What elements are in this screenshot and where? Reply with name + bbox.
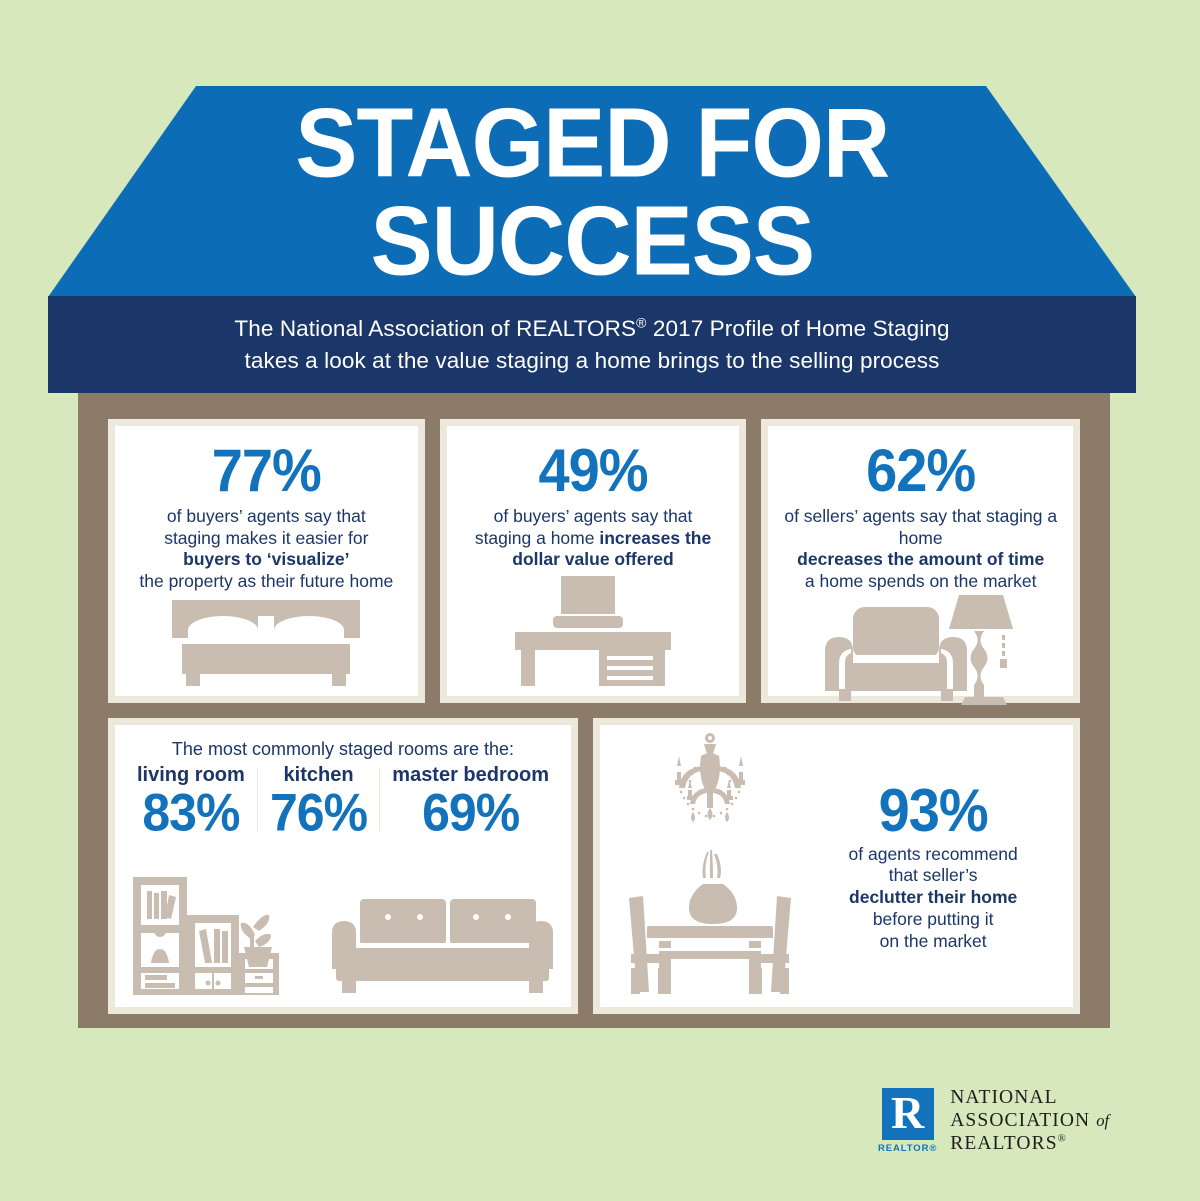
stat-49-line-2-pre: staging a home [475,528,600,548]
stat-93-line-4: before putting it [873,909,994,929]
stat-49-line-2-bold: increases the [599,528,711,548]
realtor-r-letter: R [882,1088,934,1140]
declutter-icons [610,732,809,1000]
rooms-icon-area [125,875,561,997]
subtitle-text: The National Association of REALTORS® 20… [194,313,989,375]
sofa-icon [330,895,555,997]
stats-row-top: 77% of buyers’ agents say that staging m… [108,419,1080,703]
stat-card-62: 62% of sellers’ agents say that staging … [761,419,1080,703]
nar-line-2: ASSOCIATION [950,1110,1090,1131]
stat-93-line-5: on the market [880,931,987,951]
house-illustration: STAGED FOR SUCCESS The National Associat… [0,0,1200,1201]
stat-card-93: 93% of agents recommend that seller’s de… [593,718,1080,1014]
stats-row-bottom: The most commonly staged rooms are the: … [108,718,1080,1014]
stat-description-77: of buyers’ agents say that staging makes… [139,506,393,593]
subtitle-banner: The National Association of REALTORS® 20… [48,296,1136,393]
room-stat-living-room: living room 83% [125,764,257,837]
room-percent-master-bedroom: 69% [422,786,519,840]
room-percent-kitchen: 76% [270,786,367,840]
armchair-lamp-icon [823,593,1018,705]
subtitle-line-1-post: 2017 Profile of Home Staging [647,316,950,341]
dining-table-icon [625,850,795,1000]
stat-62-line-2: decreases the amount of time [797,549,1044,569]
stat-77-line-3: buyers to ‘visualize’ [183,549,349,569]
realtor-block-icon: R [882,1088,934,1140]
armchair-lamp-icon-area [778,593,1063,705]
nar-line-2-of: of [1096,1111,1109,1130]
registered-mark-icon: ® [636,315,646,331]
nar-line-2-wrap: ASSOCIATION of [950,1109,1109,1132]
stat-93-line-1: of agents recommend [849,844,1018,864]
desk-icon [513,574,673,686]
stat-93-line-3: declutter their home [849,887,1017,907]
stat-49-line-1: of buyers’ agents say that [494,506,693,526]
stat-card-rooms: The most commonly staged rooms are the: … [108,718,578,1014]
bed-icon-area [125,600,408,686]
stat-card-77-inner: 77% of buyers’ agents say that staging m… [115,426,418,696]
stat-77-line-2: staging makes it easier for [164,528,368,548]
nar-logo: R REALTOR® NATIONAL ASSOCIATION of REALT… [878,1086,1109,1155]
stats-grid: 77% of buyers’ agents say that staging m… [78,393,1110,1028]
stat-49-line-3: dollar value offered [512,549,673,569]
bed-icon [166,600,366,686]
stat-77-line-4: the property as their future home [139,571,393,591]
stat-percent-62: 62% [866,440,975,500]
bookshelf-icon [131,875,281,997]
room-percent-living-room: 83% [142,786,239,840]
nar-wordmark: NATIONAL ASSOCIATION of REALTORS® [950,1086,1109,1155]
stat-93-line-2: that seller’s [889,865,978,885]
stat-percent-77: 77% [212,440,321,500]
nar-line-1: NATIONAL [950,1086,1109,1109]
roof-shape [48,86,1136,297]
nar-registered-icon: ® [1058,1133,1067,1145]
subtitle-line-1-pre: The National Association of REALTORS [234,316,636,341]
stat-percent-49: 49% [538,440,647,500]
stat-percent-93: 93% [879,780,988,840]
stat-card-93-inner: 93% of agents recommend that seller’s de… [600,725,1073,1007]
nar-line-3-wrap: REALTORS® [950,1132,1109,1155]
chandelier-icon [651,732,769,844]
subtitle-line-2: takes a look at the value staging a home… [245,348,940,373]
stat-card-49: 49% of buyers’ agents say that staging a… [440,419,747,703]
declutter-text-block: 93% of agents recommend that seller’s de… [809,780,1063,952]
stat-card-62-inner: 62% of sellers’ agents say that staging … [768,426,1073,696]
stat-card-rooms-inner: The most commonly staged rooms are the: … [115,725,571,1007]
room-stat-kitchen: kitchen 76% [258,764,379,837]
stat-description-49: of buyers’ agents say that staging a hom… [475,506,711,571]
stat-77-line-1: of buyers’ agents say that [167,506,366,526]
desk-icon-area [457,574,730,686]
stat-description-62: of sellers’ agents say that staging a ho… [778,506,1063,593]
stat-62-line-3: a home spends on the market [805,571,1037,591]
rooms-stats-row: living room 83% kitchen 76% master bedro… [125,764,561,837]
rooms-heading: The most commonly staged rooms are the: [172,739,514,760]
stat-card-49-inner: 49% of buyers’ agents say that staging a… [447,426,740,696]
realtor-mark: R REALTOR® [878,1088,937,1154]
declutter-split: 93% of agents recommend that seller’s de… [610,735,1063,997]
nar-line-3: REALTORS [950,1133,1057,1154]
room-stat-master-bedroom: master bedroom 69% [380,764,561,837]
stat-card-77: 77% of buyers’ agents say that staging m… [108,419,425,703]
stat-62-line-1: of sellers’ agents say that staging a ho… [784,506,1057,548]
realtor-wordmark: REALTOR® [878,1143,937,1154]
stat-description-93: of agents recommend that seller’s declut… [849,844,1018,952]
